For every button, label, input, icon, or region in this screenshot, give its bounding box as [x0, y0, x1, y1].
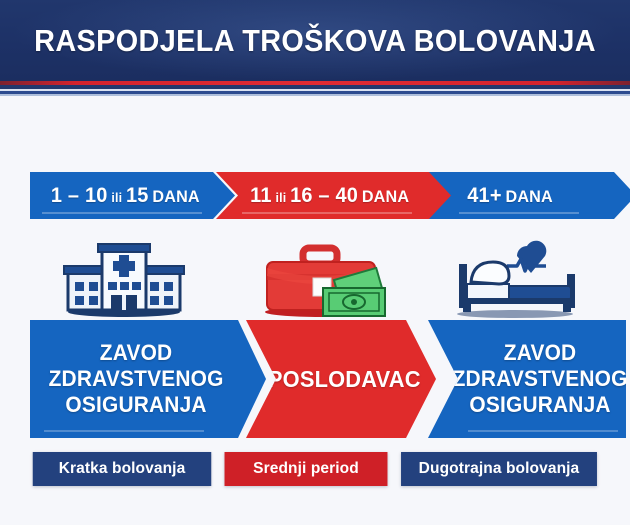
footer-label-stage-1[interactable]: Kratka bolovanja [33, 452, 211, 486]
payer-blocks-row: ZAVOD ZDRAVSTVENOG OSIGURANJA POSLODAVAC… [0, 320, 630, 438]
duration-banner-stage-1[interactable]: 1 – 10 ili 15 DANA [30, 172, 235, 219]
unit-label-2: DANA [362, 187, 409, 207]
unit-label-1: DANA [152, 187, 199, 207]
payer-line-1-2: ZDRAVSTVENOG [49, 366, 224, 392]
conjunction-1: ili [111, 190, 122, 205]
duration-banner-stage-3[interactable]: 41+ DANA [429, 172, 630, 219]
payer-line-3-2: ZDRAVSTVENOG [453, 366, 628, 392]
range-primary-3: 41+ [467, 184, 501, 208]
banner-underline-1 [42, 212, 202, 214]
payer-underline-1 [44, 430, 204, 432]
icon-cell-3 [430, 238, 600, 318]
range-secondary-1: 15 [126, 184, 149, 208]
hospital-icon [58, 242, 190, 318]
footer-label-row: Kratka bolovanja Srednji period Dugotraj… [0, 452, 630, 486]
payer-label-1: ZAVOD ZDRAVSTVENOG OSIGURANJA [49, 340, 224, 418]
duration-banner-stage-2[interactable]: 11 ili 16 – 40 DANA [216, 172, 461, 219]
footer-label-stage-2[interactable]: Srednji period [225, 452, 388, 486]
header-bar: RASPODJELA TROŠKOVA BOLOVANJA [0, 0, 630, 82]
conjunction-2: ili [275, 190, 286, 205]
header-divider-pale [0, 94, 630, 96]
icon-cell-2 [224, 238, 424, 318]
icons-row [0, 238, 630, 318]
payer-line-1-3: OSIGURANJA [49, 392, 224, 418]
duration-banner-text-3: 41+ DANA [467, 184, 553, 208]
payer-underline-3 [468, 430, 618, 432]
infographic-page: RASPODJELA TROŠKOVA BOLOVANJA 1 – 10 ili… [0, 0, 630, 525]
range-secondary-2: 16 – 40 [290, 184, 358, 208]
duration-banner-row: 1 – 10 ili 15 DANA 11 ili 16 – 40 DANA 4… [0, 172, 630, 219]
unit-label-3: DANA [505, 187, 552, 207]
briefcase-money-icon [249, 240, 399, 318]
payer-line-2-1: POSLODAVAC [267, 366, 420, 392]
payer-label-2: POSLODAVAC [262, 366, 421, 392]
payer-line-3-3: OSIGURANJA [453, 392, 628, 418]
hospital-bed-heart-icon [445, 240, 585, 318]
duration-banner-text-1: 1 – 10 ili 15 DANA [51, 184, 200, 208]
payer-block-stage-2[interactable]: POSLODAVAC [246, 320, 436, 438]
range-primary-2: 11 [250, 184, 271, 208]
payer-line-1-1: ZAVOD [49, 340, 224, 366]
payer-block-stage-1[interactable]: ZAVOD ZDRAVSTVENOG OSIGURANJA [30, 320, 266, 438]
banner-underline-2 [242, 212, 412, 214]
payer-block-stage-3[interactable]: ZAVOD ZDRAVSTVENOG OSIGURANJA [428, 320, 626, 438]
range-primary-1: 1 – 10 [51, 184, 108, 208]
payer-line-3-1: ZAVOD [453, 340, 628, 366]
banner-underline-3 [459, 212, 579, 214]
footer-label-stage-3[interactable]: Dugotrajna bolovanja [401, 452, 597, 486]
payer-label-3: ZAVOD ZDRAVSTVENOG OSIGURANJA [453, 340, 628, 418]
page-title: RASPODJELA TROŠKOVA BOLOVANJA [34, 23, 596, 59]
duration-banner-text-2: 11 ili 16 – 40 DANA [250, 184, 409, 208]
icon-cell-1 [30, 238, 218, 318]
